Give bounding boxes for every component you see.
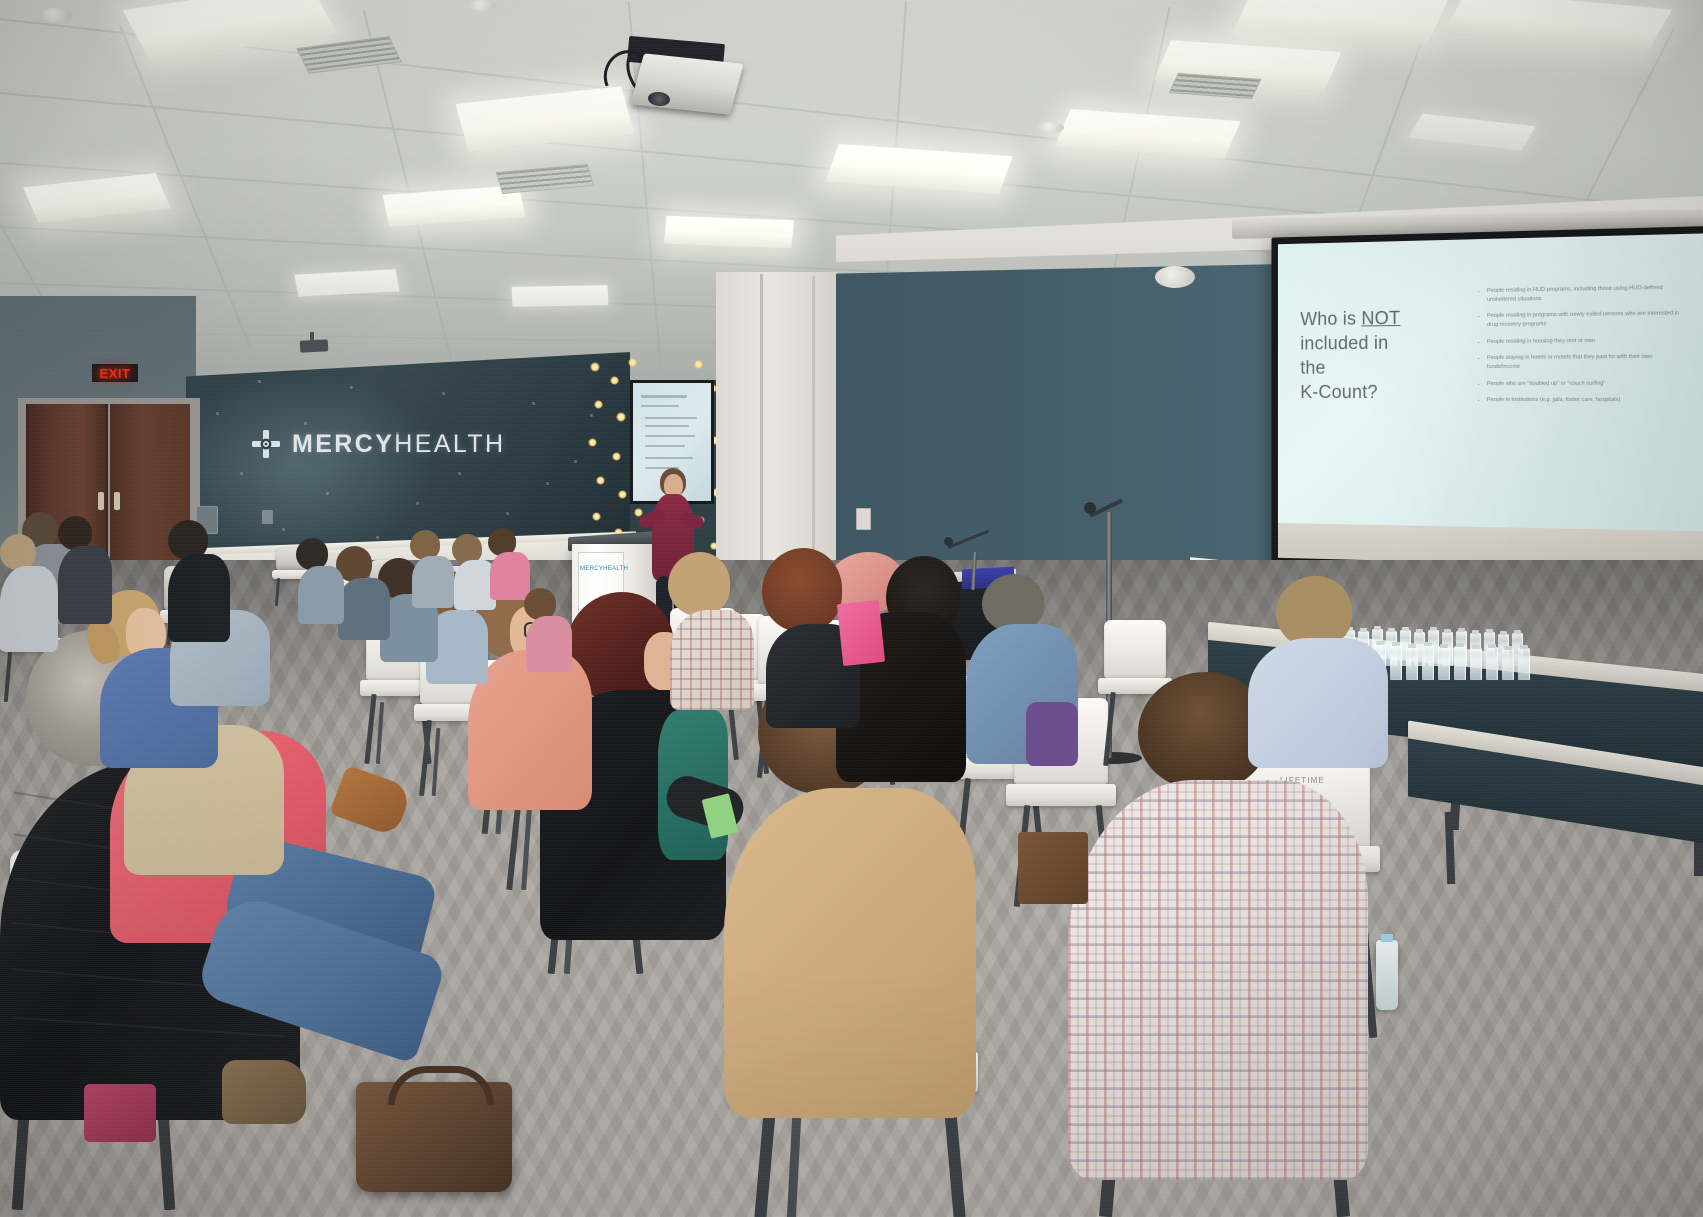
torso: [0, 566, 58, 652]
projection-screen-frame: Who is NOT included in the K-Count? Peop…: [1271, 226, 1703, 576]
mercy-cross-icon: [250, 428, 282, 460]
slide-bullet: People residing in programs with newly e…: [1487, 309, 1687, 329]
torso: [412, 556, 454, 608]
exit-sign-label: EXIT: [100, 366, 131, 381]
podium-logo: MERCYHEALTH: [580, 566, 624, 572]
slide-bullet: People staying in hotels or motels that …: [1487, 353, 1687, 372]
slide-title: Who is NOT included in the K-Count?: [1300, 305, 1473, 405]
projector-arm: [310, 332, 314, 342]
secondary-projector: [300, 339, 329, 352]
exit-sign: EXIT: [92, 364, 138, 382]
audience-member: [0, 534, 64, 660]
door-handle[interactable]: [114, 492, 120, 510]
tote-bag[interactable]: [1018, 832, 1088, 904]
wall-plate: [262, 510, 273, 524]
audience-member: [58, 516, 120, 634]
slide-bullet: People residing in HUD programs, includi…: [1487, 283, 1687, 304]
ceiling-speaker: [40, 8, 72, 22]
torso: [58, 546, 112, 624]
slide-bullet: People in institutions (e.g. jails, fost…: [1487, 396, 1687, 405]
wall-outlet[interactable]: [856, 508, 871, 530]
audience-member: [524, 588, 580, 678]
audience-member: [296, 538, 352, 630]
hair: [668, 552, 730, 616]
torso: [526, 616, 572, 672]
audience-member: [168, 520, 238, 650]
torso: [724, 788, 976, 1118]
audience-member: [966, 574, 1096, 804]
slide-bullet-list: People residing in HUD programs, includi…: [1477, 283, 1687, 413]
microphone-head: [944, 537, 953, 546]
slide-bullet: People who are "doubled up" or "couch su…: [1487, 379, 1687, 388]
hair: [0, 534, 36, 570]
projection-screen: Who is NOT included in the K-Count? Peop…: [1278, 233, 1703, 568]
ceiling-light-panel: [512, 285, 609, 307]
ceiling-light-panel: [664, 216, 795, 248]
hair: [762, 548, 842, 632]
audience-member: [1248, 576, 1408, 776]
shoe: [222, 1060, 306, 1124]
torso: [168, 554, 230, 642]
torso: [298, 566, 344, 624]
torso: [1248, 638, 1388, 768]
audience-member: [668, 552, 768, 722]
torso: [670, 610, 754, 710]
mercy-health-logotype: MERCYHEALTH: [292, 430, 505, 459]
torso: [1068, 780, 1368, 1180]
ceiling-projector: [630, 53, 743, 114]
pink-folder: [837, 600, 885, 666]
ceiling-speaker: [1038, 122, 1064, 133]
conference-room-photo: MERCYHEALTH EXIT: [0, 0, 1703, 1217]
purple-top: [1026, 702, 1078, 766]
microphone-head: [1084, 502, 1096, 514]
ceiling-speaker: [1155, 266, 1195, 288]
handbag[interactable]: [84, 1084, 156, 1142]
slide-bullet: People residing in housing they rent or …: [1487, 336, 1687, 347]
ceiling-speaker: [468, 0, 496, 11]
mercy-health-wall-logo: MERCYHEALTH: [250, 428, 505, 460]
door-handle[interactable]: [98, 492, 104, 510]
